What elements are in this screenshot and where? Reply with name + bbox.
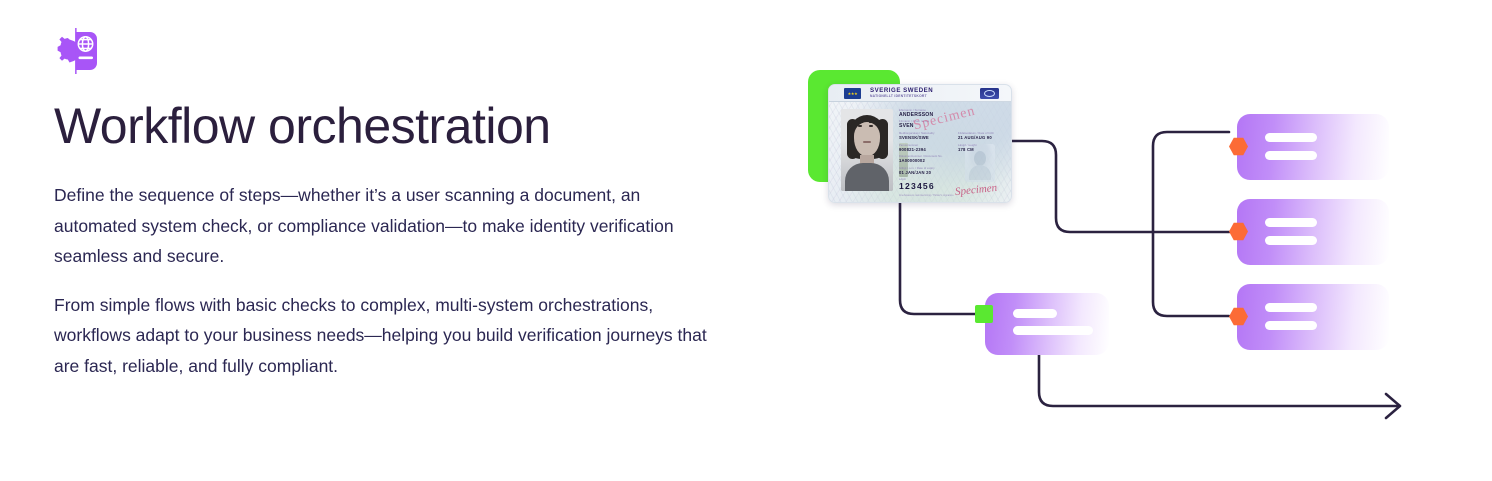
line-branch-to-bottom-node	[1153, 232, 1229, 316]
node-line-1	[1265, 218, 1317, 227]
node-line-2	[1013, 326, 1093, 335]
eu-stars: ★★★	[848, 92, 858, 96]
line-card-to-main-node	[900, 203, 975, 314]
card-field-date-of-birth: Födelsedatum / Date of birth 21 AUG/AUG …	[958, 132, 994, 140]
line-branch-to-top-node	[1153, 132, 1229, 232]
workflow-illustration: ★★★ SVERIGE SWEDEN NATIONELLT IDENTITETS…	[780, 0, 1492, 481]
card-field-height: Längd / Height 178 CM	[958, 144, 977, 152]
node-line-2	[1265, 321, 1317, 330]
card-doctype-label: NATIONELLT IDENTITETSKORT	[870, 94, 927, 98]
workflow-node-top[interactable]	[1237, 114, 1389, 180]
feature-section: Workflow orchestration Define the sequen…	[0, 0, 1492, 481]
workflow-node-main[interactable]	[985, 293, 1109, 355]
card-field-serial-number: Löpnr 123456	[899, 178, 935, 191]
workflow-node-bottom[interactable]	[1237, 284, 1389, 350]
connector-square-main[interactable]	[975, 305, 993, 323]
portrait-photo	[841, 109, 893, 191]
line-card-to-middle-node	[1012, 141, 1229, 232]
id-card-specimen: ★★★ SVERIGE SWEDEN NATIONELLT IDENTITETS…	[828, 84, 1012, 203]
node-line-1	[1265, 303, 1317, 312]
eu-flag-icon: ★★★	[844, 88, 861, 99]
node-line-1	[1013, 309, 1057, 318]
card-field-expiry-date: Giltigt t.o.m. / Date of expiry 01 JAN/J…	[899, 167, 935, 175]
node-line-1	[1265, 133, 1317, 142]
line-main-node-to-output	[1039, 355, 1398, 406]
workflow-node-middle[interactable]	[1237, 199, 1389, 265]
card-field-document-number: Dokumentnummer / Document No. 1A00000002	[899, 155, 943, 163]
biometric-chip-icon	[980, 88, 999, 99]
feature-text-column: Workflow orchestration Define the sequen…	[54, 28, 734, 381]
card-country-label: SVERIGE SWEDEN	[870, 87, 933, 94]
description-paragraph-1: Define the sequence of steps—whether it’…	[54, 180, 719, 272]
description-paragraph-2: From simple flows with basic checks to c…	[54, 290, 719, 382]
card-field-signature-caption: Innehavarens namnteckning / Holder's sig…	[899, 195, 954, 197]
workflow-passport-gear-icon	[54, 28, 106, 74]
node-line-2	[1265, 151, 1317, 160]
feature-description: Define the sequence of steps—whether it’…	[54, 180, 734, 381]
card-field-personal-number: Personnummer 900821-2394	[899, 144, 926, 152]
page-title: Workflow orchestration	[54, 98, 734, 154]
node-line-2	[1265, 236, 1317, 245]
